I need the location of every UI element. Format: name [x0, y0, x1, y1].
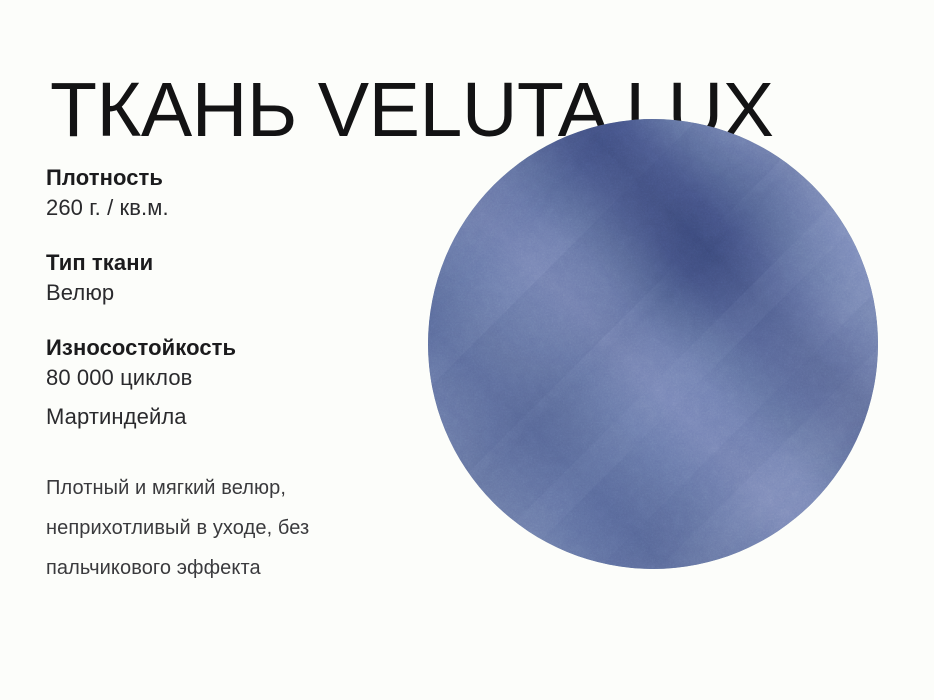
spec-item-fabric-type: Тип ткани Велюр — [46, 248, 446, 308]
spec-label-density: Плотность — [46, 163, 446, 193]
spec-list: Плотность 260 г. / кв.м. Тип ткани Велюр… — [46, 163, 446, 457]
spec-label-fabric-type: Тип ткани — [46, 248, 446, 278]
spec-value-abrasion-resistance-unit: Мартиндейла — [46, 402, 446, 432]
fabric-swatch-circle — [428, 119, 878, 569]
spec-value-fabric-type: Велюр — [46, 278, 446, 308]
spec-value-density: 260 г. / кв.м. — [46, 193, 446, 223]
spec-item-abrasion-resistance: Износостойкость 80 000 циклов Мартиндейл… — [46, 333, 446, 432]
fabric-swatch-image — [428, 119, 878, 569]
spec-item-density: Плотность 260 г. / кв.м. — [46, 163, 446, 223]
spec-label-abrasion-resistance: Износостойкость — [46, 333, 446, 363]
fabric-description: Плотный и мягкий велюр, неприхотливый в … — [46, 468, 436, 588]
fabric-spec-card: ТКАНЬ VELUTA LUX Плотность 260 г. / кв.м… — [0, 0, 934, 700]
spec-value-abrasion-resistance: 80 000 циклов — [46, 363, 446, 393]
